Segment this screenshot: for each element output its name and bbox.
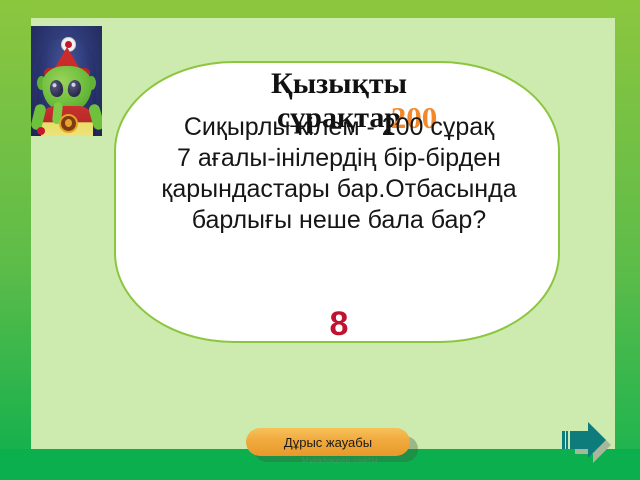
frame-top-border — [0, 0, 640, 18]
watermark-text: Мұғалімдер сайты — [250, 456, 430, 465]
arrow-right-icon[interactable] — [558, 418, 612, 464]
question-text: Сиқырлы кілем - 200 сұрақ 7 ағалы-інілер… — [120, 112, 558, 236]
next-slide-button[interactable] — [558, 418, 612, 464]
show-answer-button[interactable]: Дұрыс жауабы — [246, 428, 410, 456]
question-card: Қызықтысұрақтар 200 Сиқырлы кілем - 200 … — [114, 61, 560, 343]
alien-mascot-image — [31, 26, 102, 136]
mascot-dot-decoration — [37, 127, 45, 135]
frame-left-border — [0, 0, 31, 480]
answer-value: 8 — [116, 305, 562, 343]
frame-right-border — [615, 0, 640, 480]
slide-title-line1: Қызықты — [271, 67, 407, 100]
slide-canvas: Қызықтысұрақтар 200 Сиқырлы кілем - 200 … — [0, 0, 640, 480]
mascot-medal-icon — [59, 114, 78, 133]
